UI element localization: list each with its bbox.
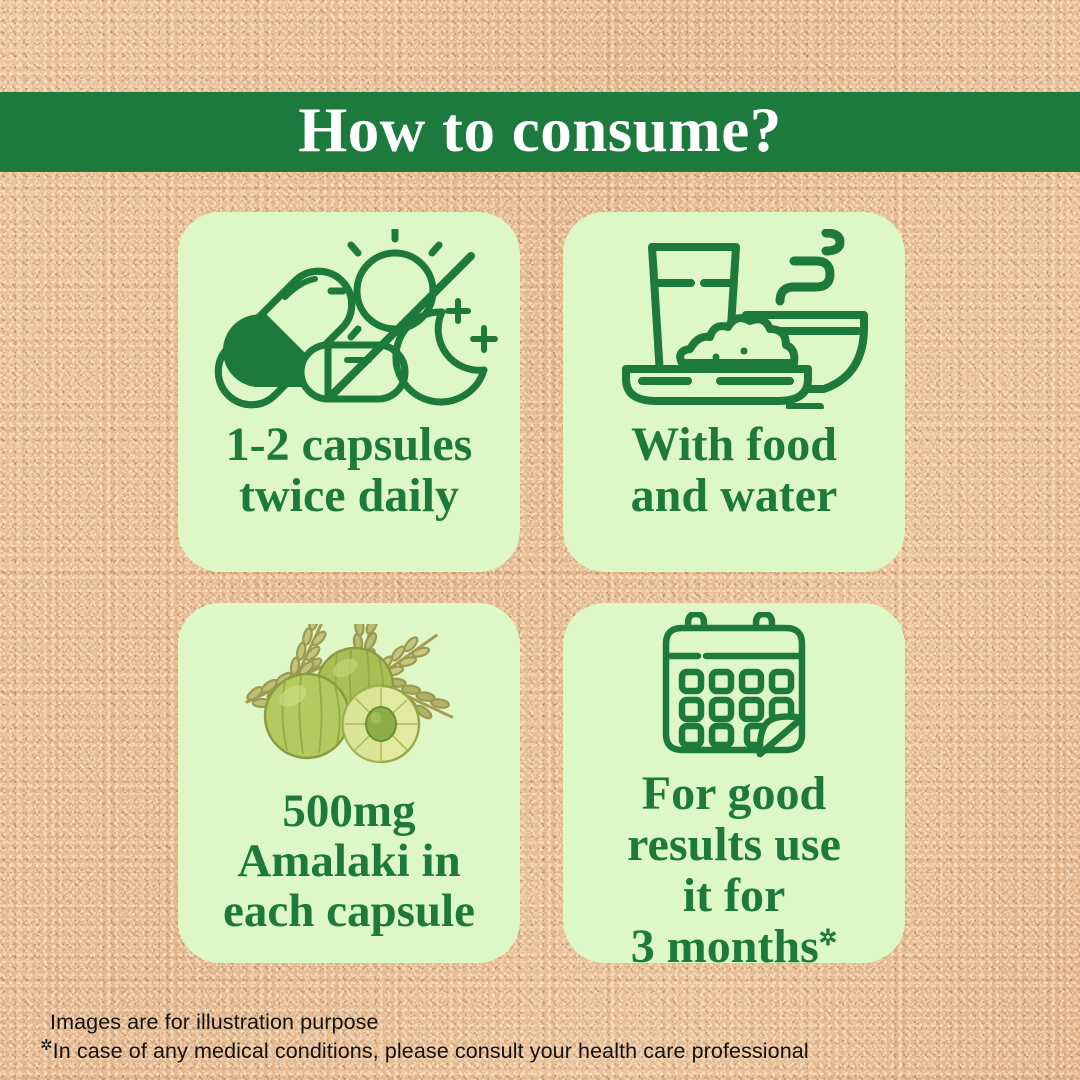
card-dosage[interactable]: 1-2 capsules twice daily [178, 212, 520, 572]
poster-canvas: How to consume? [0, 0, 1080, 1080]
footer-disclaimer: Images are for illustration purpose ✲In … [40, 1008, 1040, 1066]
card-duration-text: For good results use it for 3 months [627, 767, 841, 963]
page-title: How to consume? [298, 99, 781, 162]
footer-asterisk-marker: ✲ [40, 1037, 53, 1054]
header-band: How to consume? [0, 92, 1080, 172]
card-food[interactable]: With food and water [563, 212, 905, 572]
amla-fruit-illustration [178, 603, 520, 773]
card-duration[interactable]: For good results use it for 3 months✲ [563, 603, 905, 963]
meal-glass-bowl-icon [563, 212, 905, 412]
card-strength-label: 500mg Amalaki in each capsule [213, 787, 485, 936]
card-strength[interactable]: 500mg Amalaki in each capsule [178, 603, 520, 963]
capsules-sun-moon-icon [178, 212, 520, 412]
footer-line-medical: ✲In case of any medical conditions, plea… [40, 1037, 1040, 1066]
asterisk-marker: ✲ [819, 925, 837, 950]
instruction-card-grid: 1-2 capsules twice daily [178, 212, 905, 963]
card-dosage-label: 1-2 capsules twice daily [216, 420, 483, 522]
card-food-label: With food and water [621, 420, 848, 522]
calendar-icon [563, 603, 905, 763]
footer-line-medical-text: In case of any medical conditions, pleas… [53, 1039, 809, 1063]
card-duration-label: For good results use it for 3 months✲ [617, 769, 851, 963]
footer-line-illustration: Images are for illustration purpose [40, 1008, 1040, 1037]
